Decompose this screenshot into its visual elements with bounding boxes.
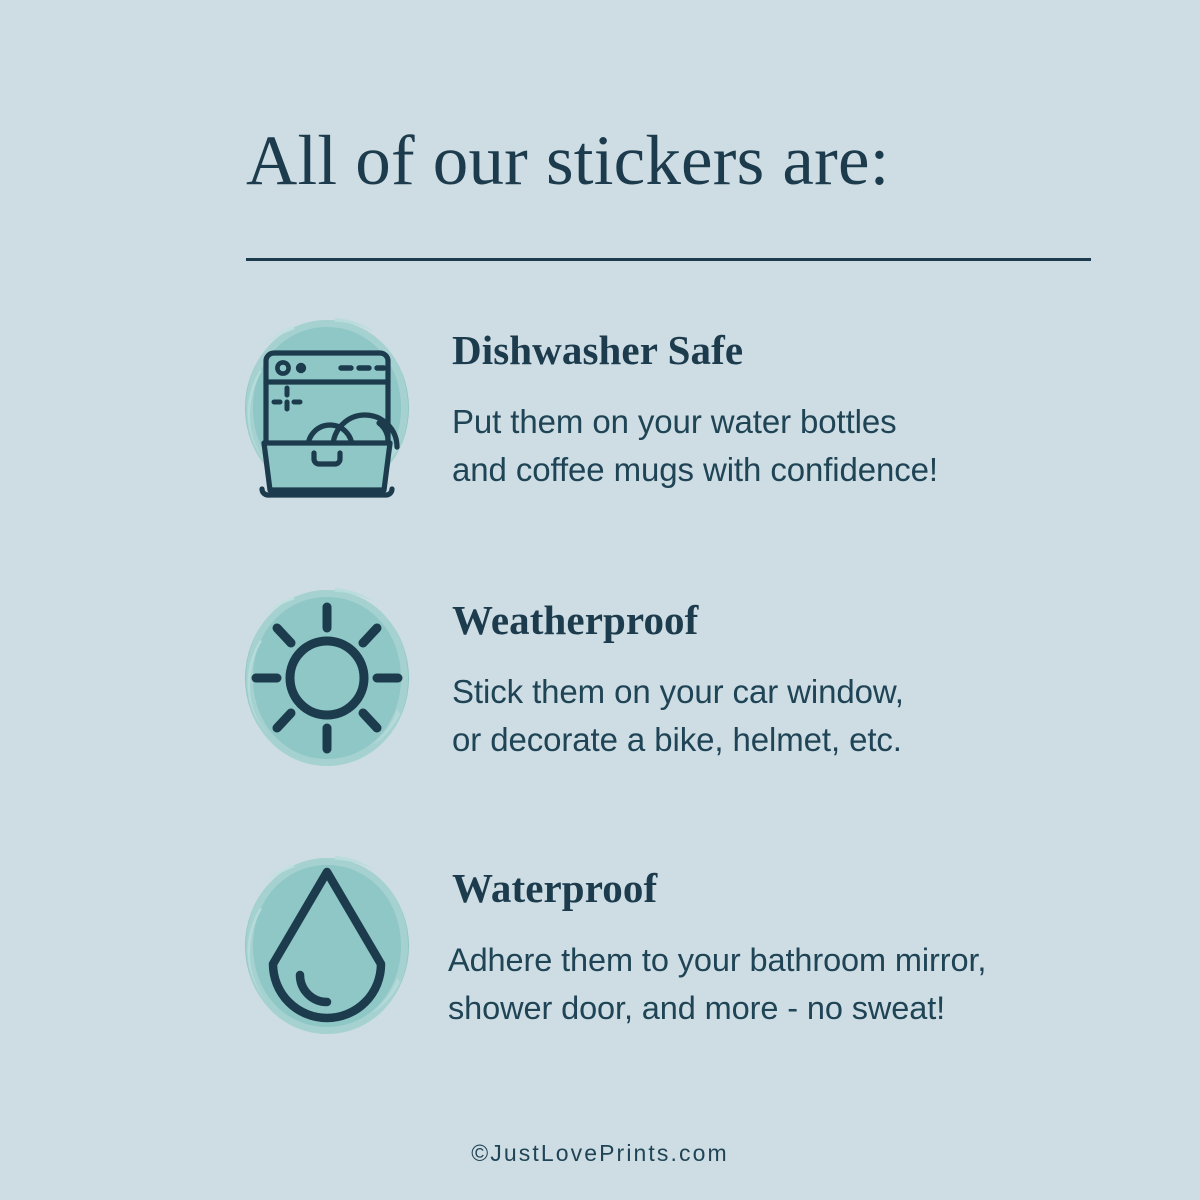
feature-text: Dishwasher Safe Put them on your water b… (452, 310, 1192, 494)
title-divider (246, 258, 1091, 261)
dishwasher-icon (232, 310, 422, 506)
feature-row: Waterproof Adhere them to your bathroom … (232, 848, 1192, 1048)
infographic-page: All of our stickers are: (0, 0, 1200, 1200)
footer-credit: ©JustLovePrints.com (0, 1140, 1200, 1167)
water-drop-icon (232, 848, 422, 1044)
feature-body: Put them on your water bottles and coffe… (452, 398, 1192, 494)
feature-heading: Weatherproof (452, 600, 1192, 641)
feature-body: Adhere them to your bathroom mirror, sho… (448, 936, 1192, 1032)
feature-body-line: shower door, and more - no sweat! (448, 984, 1192, 1032)
feature-text: Weatherproof Stick them on your car wind… (452, 580, 1192, 764)
feature-heading: Dishwasher Safe (452, 330, 1192, 371)
feature-body: Stick them on your car window, or decora… (452, 668, 1192, 764)
feature-body-line: and coffee mugs with confidence! (452, 446, 1192, 494)
feature-body-line: or decorate a bike, helmet, etc. (452, 716, 1192, 764)
feature-body-line: Adhere them to your bathroom mirror, (448, 936, 1192, 984)
page-title: All of our stickers are: (246, 126, 1106, 197)
feature-heading: Waterproof (452, 868, 1192, 909)
sun-icon (232, 580, 422, 776)
feature-row: Weatherproof Stick them on your car wind… (232, 580, 1192, 780)
feature-text: Waterproof Adhere them to your bathroom … (452, 848, 1192, 1032)
feature-body-line: Put them on your water bottles (452, 398, 1192, 446)
feature-body-line: Stick them on your car window, (452, 668, 1192, 716)
feature-row: Dishwasher Safe Put them on your water b… (232, 310, 1192, 510)
